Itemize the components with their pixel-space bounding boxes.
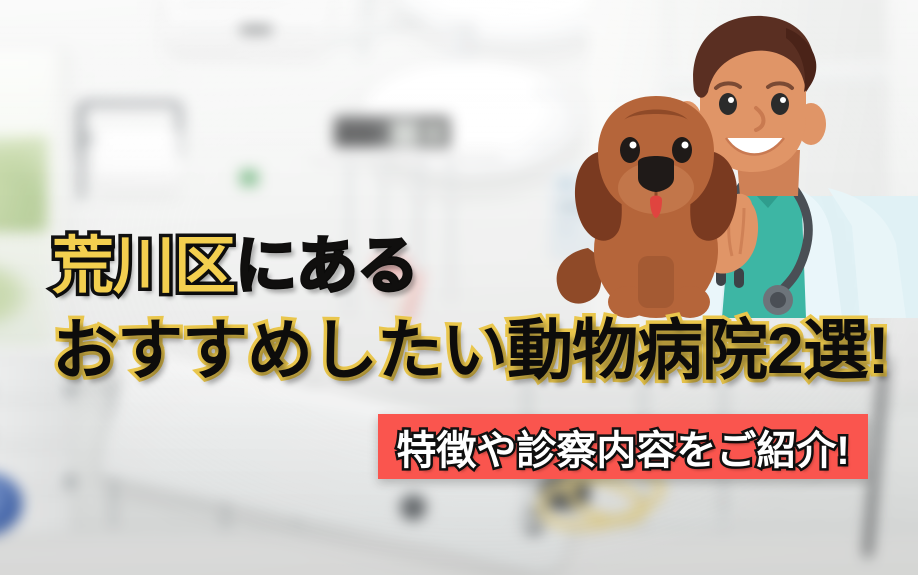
- headline-line-2: おすすめしたい動物病院2選!: [52, 317, 889, 383]
- headline-line-1-rest: にある: [235, 232, 418, 301]
- headline-line-1: 荒川区にある: [52, 236, 418, 298]
- text-overlay: 荒川区にある おすすめしたい動物病院2選! 特徴や診察内容をご紹介!: [0, 0, 918, 575]
- subtitle-banner: 特徴や診察内容をご紹介!: [378, 414, 868, 479]
- thumbnail-canvas: 荒川区にある おすすめしたい動物病院2選! 特徴や診察内容をご紹介!: [0, 0, 918, 575]
- headline-highlight-area: 荒川区: [52, 232, 235, 301]
- subtitle-banner-text: 特徴や診察内容をご紹介!: [396, 418, 849, 476]
